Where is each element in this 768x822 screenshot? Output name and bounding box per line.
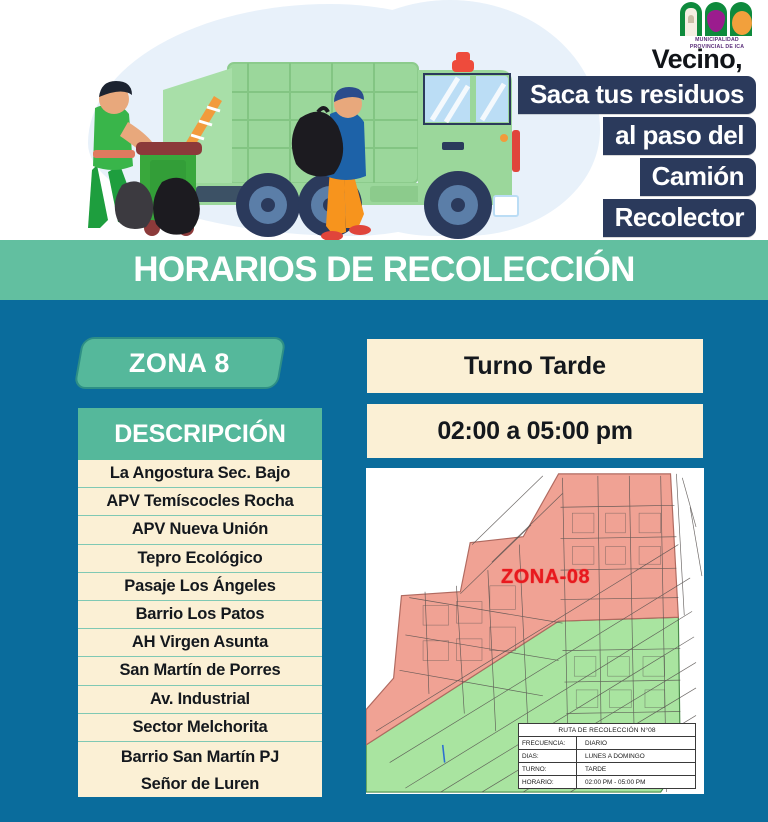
page-title: HORARIOS DE RECOLECCIÓN bbox=[133, 250, 635, 290]
map-zone-label: ZONA-08 bbox=[501, 566, 590, 589]
description-row: Av. Industrial bbox=[78, 686, 322, 714]
description-header: DESCRIPCIÓN bbox=[78, 408, 322, 460]
map-legend-value: 02:00 PM - 05:00 PM bbox=[577, 779, 645, 786]
zone-map[interactable]: ZONA-08 RUTA DE RECOLECCIÓN N°08 FRECUEN… bbox=[363, 465, 707, 797]
hero-headline: Vecino, Saca tus residuos al paso del Ca… bbox=[506, 44, 756, 240]
hero-line-4: Recolector bbox=[603, 199, 756, 237]
hero-line-2: al paso del bbox=[603, 117, 756, 155]
hero-greeting: Vecino, bbox=[506, 44, 742, 74]
map-legend-value: LUNES A DOMINGO bbox=[577, 753, 645, 760]
map-legend-table: RUTA DE RECOLECCIÓN N°08 FRECUENCIA:DIAR… bbox=[518, 723, 696, 789]
hero-line-3: Camión bbox=[640, 158, 756, 196]
description-header-label: DESCRIPCIÓN bbox=[114, 420, 285, 449]
map-legend-row: HORARIO:02:00 PM - 05:00 PM bbox=[519, 776, 695, 788]
map-legend-key: FRECUENCIA: bbox=[519, 737, 577, 749]
church-tower-icon bbox=[685, 8, 697, 36]
hero-section: MUNICIPALIDAD PROVINCIAL DE ICA Vecino, … bbox=[0, 0, 768, 240]
map-legend-rows: FRECUENCIA:DIARIODIAS:LUNES A DOMINGOTUR… bbox=[519, 737, 695, 788]
map-legend-title: RUTA DE RECOLECCIÓN N°08 bbox=[519, 724, 695, 737]
hero-line-1: Saca tus residuos bbox=[518, 76, 756, 114]
shift-box: Turno Tarde bbox=[363, 335, 707, 397]
map-legend-row: DIAS:LUNES A DOMINGO bbox=[519, 750, 695, 763]
shift-label: Turno Tarde bbox=[464, 352, 606, 381]
description-row-line: Señor de Luren bbox=[84, 771, 316, 798]
garbage-truck-illustration bbox=[0, 0, 560, 240]
description-row: APV Temíscocles Rocha bbox=[78, 488, 322, 516]
logo-name: MUNICIPALIDAD bbox=[680, 37, 754, 43]
description-row: Tepro Ecológico bbox=[78, 545, 322, 573]
description-row: Barrio Los Patos bbox=[78, 601, 322, 629]
map-legend-value: TARDE bbox=[577, 766, 606, 773]
map-legend-row: FRECUENCIA:DIARIO bbox=[519, 737, 695, 750]
hours-label: 02:00 a 05:00 pm bbox=[437, 417, 632, 446]
zone-badge: ZONA 8 bbox=[73, 337, 286, 389]
map-legend-key: HORARIO: bbox=[519, 776, 577, 788]
hours-box: 02:00 a 05:00 pm bbox=[363, 400, 707, 462]
title-band: HORARIOS DE RECOLECCIÓN bbox=[0, 240, 768, 300]
description-row: AH Virgen Asunta bbox=[78, 629, 322, 657]
map-legend-value: DIARIO bbox=[577, 740, 607, 747]
logo-arches bbox=[680, 2, 754, 36]
zone-badge-label: ZONA 8 bbox=[129, 348, 230, 379]
description-row-line: Barrio San Martín PJ bbox=[84, 744, 316, 771]
map-legend-row: TURNO:TARDE bbox=[519, 763, 695, 776]
description-row: APV Nueva Unión bbox=[78, 516, 322, 544]
orange-fruit-icon bbox=[732, 11, 752, 35]
description-row: La Angostura Sec. Bajo bbox=[78, 460, 322, 488]
description-row: Sector Melchorita bbox=[78, 714, 322, 742]
description-row: Pasaje Los Ángeles bbox=[78, 573, 322, 601]
description-row: Barrio San Martín PJSeñor de Luren bbox=[78, 742, 322, 798]
map-legend-key: TURNO: bbox=[519, 763, 577, 775]
content-section: ZONA 8 DESCRIPCIÓN La Angostura Sec. Baj… bbox=[0, 300, 768, 822]
municipality-logo: MUNICIPALIDAD PROVINCIAL DE ICA bbox=[680, 2, 754, 50]
description-row: San Martín de Porres bbox=[78, 657, 322, 685]
description-list: La Angostura Sec. BajoAPV Temíscocles Ro… bbox=[78, 460, 322, 797]
poster: MUNICIPALIDAD PROVINCIAL DE ICA Vecino, … bbox=[0, 0, 768, 822]
map-legend-key: DIAS: bbox=[519, 750, 577, 762]
